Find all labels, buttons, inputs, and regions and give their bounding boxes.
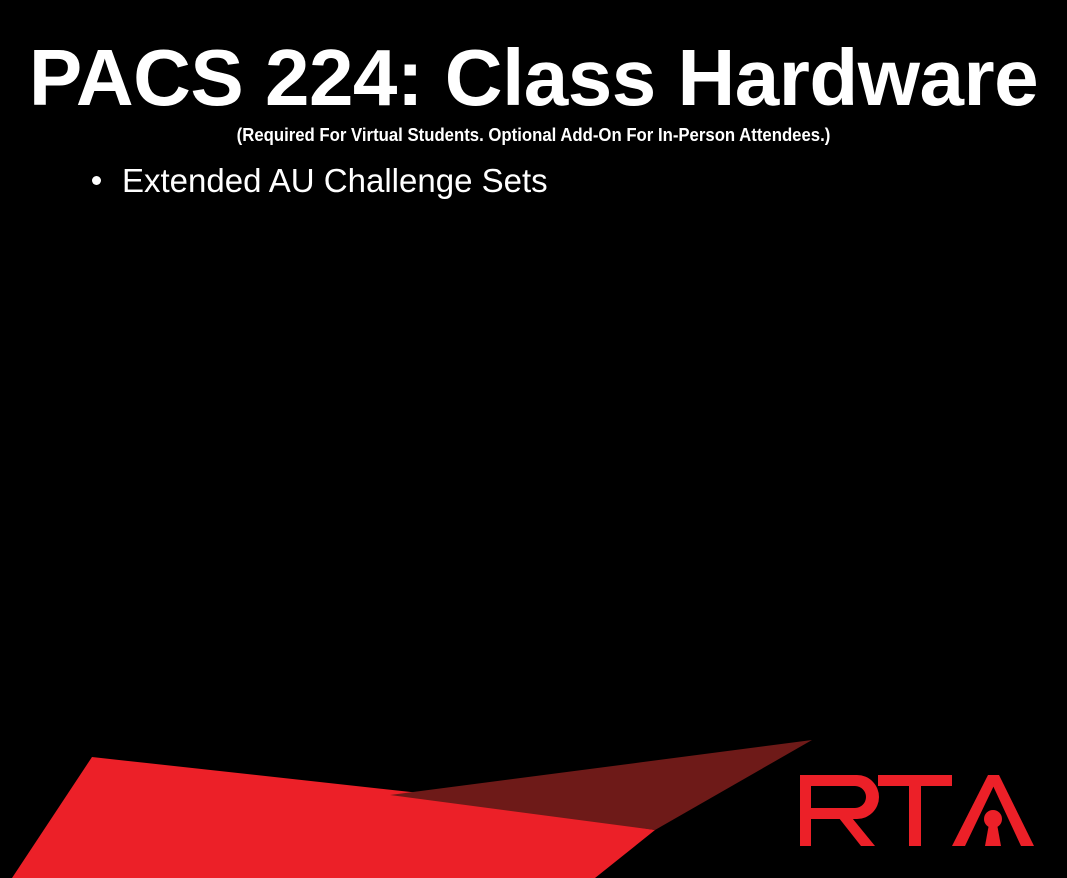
keyhole-icon bbox=[984, 810, 1002, 846]
logo-letter-t bbox=[878, 775, 952, 846]
page-title: PACS 224: Class Hardware bbox=[0, 38, 1067, 118]
slide-subtitle: (Required For Virtual Students. Optional… bbox=[37, 126, 1029, 144]
rta-logo bbox=[795, 768, 1040, 853]
slide-canvas: PACS 224: Class Hardware (Required For V… bbox=[0, 0, 1067, 878]
list-item: Extended AU Challenge Sets bbox=[92, 163, 548, 199]
red-accent-shape bbox=[12, 757, 655, 878]
bullet-list: Extended AU Challenge Sets bbox=[92, 163, 548, 205]
logo-letter-r bbox=[800, 775, 879, 846]
bullet-dot-icon bbox=[92, 176, 101, 185]
maroon-accent-shape bbox=[390, 740, 812, 830]
list-item-label: Extended AU Challenge Sets bbox=[122, 163, 548, 199]
